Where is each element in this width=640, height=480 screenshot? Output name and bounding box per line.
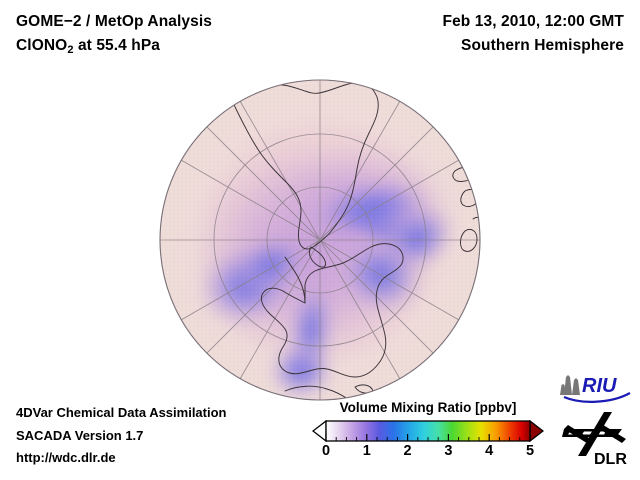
species-suffix: at 55.4 hPa [74,37,161,54]
dlr-logo-text: DLR [594,451,627,467]
colorbar-tick-2: 2 [404,443,412,459]
graticule [160,80,480,400]
footer-line-2: SACADA Version 1.7 [16,425,227,448]
dlr-logo-svg: DLR [560,411,632,467]
colorbar-tick-labels: 0 1 2 3 4 5 [312,443,544,463]
footer-text: 4DVar Chemical Data Assimilation SACADA … [16,402,227,470]
colorbar-tick-0: 0 [322,443,330,459]
colorbar: Volume Mixing Ratio [ppbv] [312,400,544,463]
colorbar-tick-1: 1 [363,443,371,459]
colorbar-high-arrow [530,421,543,441]
colorbar-low-arrow [313,421,326,441]
colorbar-tick-5: 5 [526,443,534,459]
riu-logo: RIU [558,371,632,405]
header-right: Feb 13, 2010, 12:00 GMT Southern Hemisph… [443,10,625,58]
colorbar-svg [312,420,544,442]
species-title: ClONO2 at 55.4 hPa [16,34,212,62]
footer-line-1: 4DVar Chemical Data Assimilation [16,402,227,425]
riu-logo-svg: RIU [558,371,632,405]
riu-tower-icon [560,375,580,395]
datetime-label: Feb 13, 2010, 12:00 GMT [443,10,625,34]
globe-map [159,79,481,401]
globe-svg [159,79,481,401]
dlr-logo: DLR [560,411,632,467]
region-label: Southern Hemisphere [443,34,625,58]
colorbar-tick-4: 4 [485,443,493,459]
colorbar-title: Volume Mixing Ratio [ppbv] [312,400,544,415]
dlr-mark-icon [562,412,626,456]
colorbar-bar [312,420,544,442]
footer-line-3: http://wdc.dlr.de [16,447,227,470]
riu-logo-text: RIU [582,375,617,397]
instrument-title: GOME−2 / MetOp Analysis [16,10,212,34]
header-left: GOME−2 / MetOp Analysis ClONO2 at 55.4 h… [16,10,212,62]
plot-canvas: GOME−2 / MetOp Analysis ClONO2 at 55.4 h… [0,0,640,480]
colorbar-tick-3: 3 [444,443,452,459]
species-prefix: ClONO [16,37,67,54]
